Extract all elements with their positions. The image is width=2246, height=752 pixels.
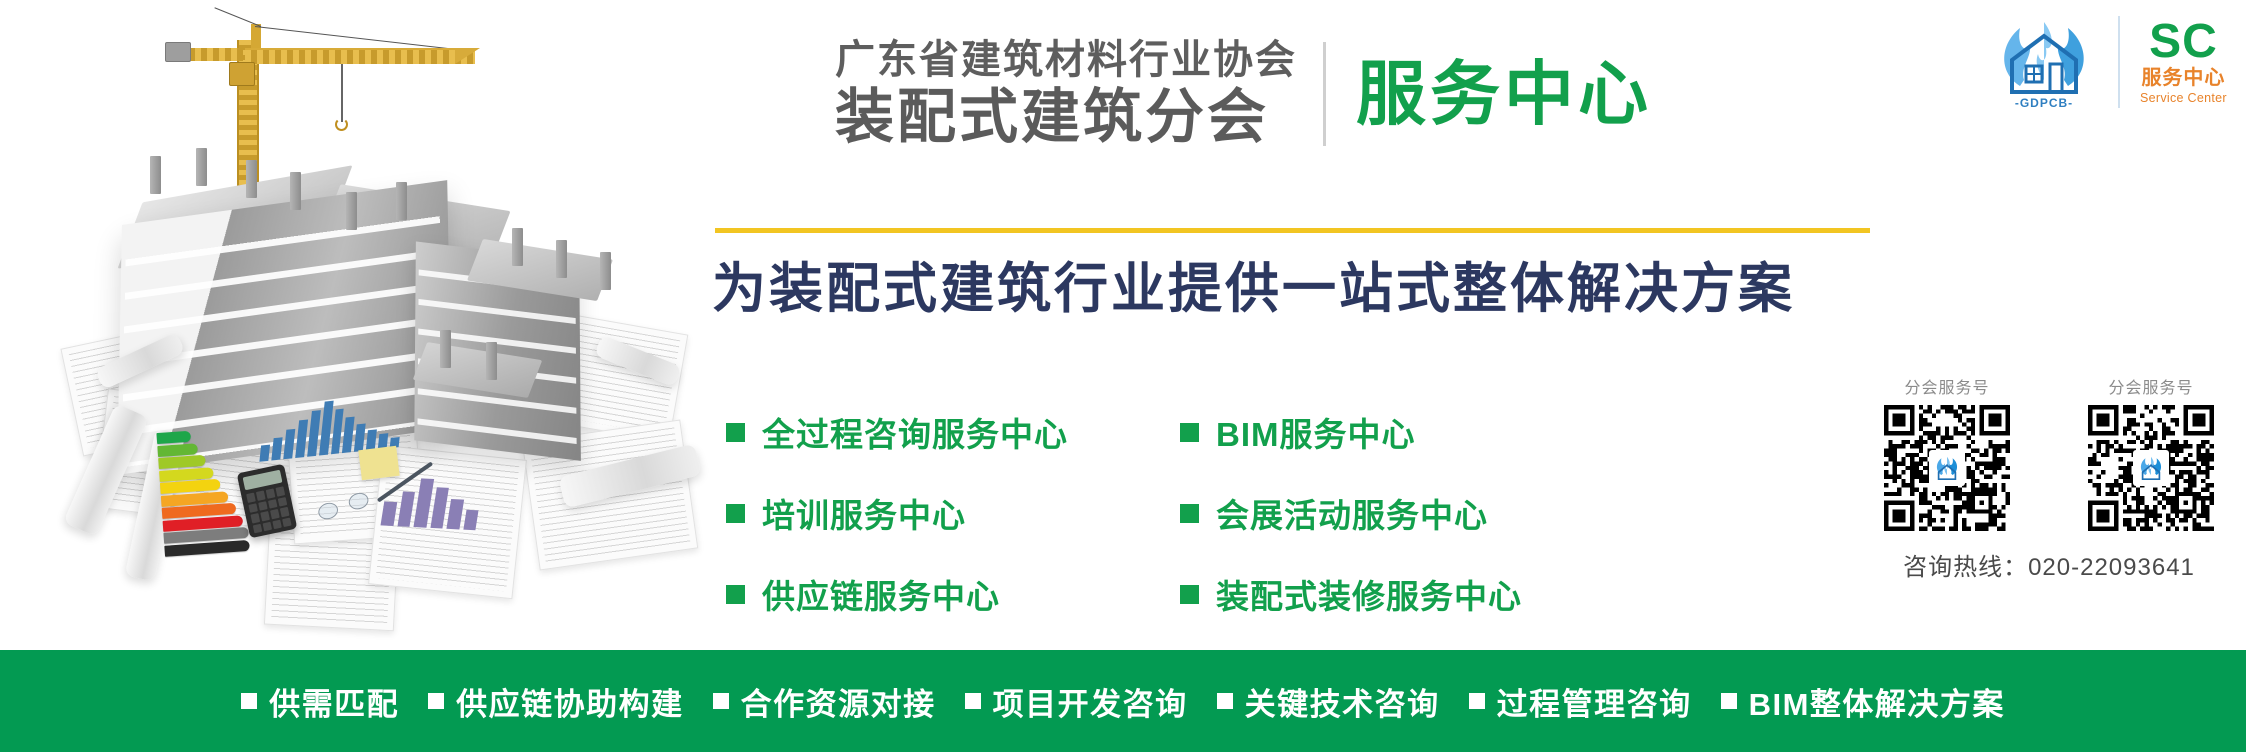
footer-item-list: 供需匹配 供应链协助构建 合作资源对接 项目开发咨询 关键技术咨询 过程管理咨询 [241,679,2005,724]
rebar-column [486,342,497,380]
square-bullet-icon [1180,504,1199,523]
square-bullet-icon [1217,693,1233,709]
bar-chart-purple [381,468,485,531]
service-column-left: 全过程咨询服务中心 培训服务中心 供应链服务中心 [726,408,1056,618]
rebar-column [196,148,207,186]
footer-bar: 供需匹配 供应链协助构建 合作资源对接 项目开发咨询 关键技术咨询 过程管理咨询 [0,650,2246,752]
service-label: 培训服务中心 [762,489,966,537]
rebar-column [556,240,567,278]
header-divider [1323,42,1326,146]
footer-item[interactable]: 供应链协助构建 [428,679,684,724]
rebar-column [246,160,257,198]
footer-item-label: 供应链协助构建 [456,679,684,724]
promo-banner: 广东省建筑材料行业协会 装配式建筑分会 服务中心 为装配式建筑行业提供一站式整体… [0,0,2246,752]
square-bullet-icon [241,693,257,709]
energy-rating-chart [156,427,248,538]
header-block: 广东省建筑材料行业协会 装配式建筑分会 服务中心 [835,38,1652,150]
qr-caption: 分会服务号 [2067,374,2235,398]
square-bullet-icon [428,693,444,709]
list-item[interactable]: 装配式装修服务中心 [1180,570,1522,618]
house-flame-svg [1990,14,2098,94]
footer-item[interactable]: 合作资源对接 [713,679,936,724]
footer-item-label: 项目开发咨询 [993,679,1188,724]
footer-item[interactable]: BIM整体解决方案 [1721,679,2005,724]
footer-item[interactable]: 供需匹配 [241,679,399,724]
list-item[interactable]: 全过程咨询服务中心 [726,408,1056,456]
hotline-text: 咨询热线：020-22093641 [1863,547,2235,582]
rebar-column [600,252,611,290]
service-column-right: BIM服务中心 会展活动服务中心 装配式装修服务中心 [1180,408,1522,618]
footer-item-label: BIM整体解决方案 [1749,679,2005,724]
list-item[interactable]: 会展活动服务中心 [1180,489,1522,537]
association-name-line1: 广东省建筑材料行业协会 [835,38,1297,83]
sticky-note [358,446,399,480]
logo-english-text: Service Center [2140,91,2227,105]
list-item[interactable]: BIM服务中心 [1180,408,1522,456]
service-label: 全过程咨询服务中心 [762,408,1068,456]
footer-item-label: 供需匹配 [269,679,399,724]
rebar-column [512,228,523,266]
qr-code-image[interactable] [2088,405,2214,531]
qr-caption: 分会服务号 [1863,374,2031,398]
logo-sc-text: SC [2140,19,2227,65]
qr-contact-block: 分会服务号 分会服务号 [1863,374,2235,582]
square-bullet-icon [726,423,745,442]
gdpcb-house-flame-icon: -GDPCB- [1990,14,2098,110]
qr-center-logo-icon [1929,450,1965,486]
service-label: 供应链服务中心 [762,570,1000,618]
rebar-column [346,192,357,230]
footer-item[interactable]: 项目开发咨询 [965,679,1188,724]
service-label: 会展活动服务中心 [1216,489,1488,537]
list-item[interactable]: 供应链服务中心 [726,570,1056,618]
logo-chinese-text: 服务中心 [2140,67,2227,90]
footer-item-label: 关键技术咨询 [1245,679,1440,724]
rebar-column [396,182,407,220]
square-bullet-icon [1469,693,1485,709]
service-center-list: 全过程咨询服务中心 培训服务中心 供应链服务中心 BIM服务中心 会展活动服务中… [726,408,1522,618]
square-bullet-icon [1180,585,1199,604]
qr-code-image[interactable] [1884,405,2010,531]
rebar-column [290,172,301,210]
association-name-line2: 装配式建筑分会 [835,85,1297,150]
qr-cell: 分会服务号 [1863,374,2031,531]
tagline: 为装配式建筑行业提供一站式整体解决方案 [712,262,1892,316]
yellow-divider [715,228,1870,233]
service-center-title: 服务中心 [1356,59,1652,129]
footer-item[interactable]: 过程管理咨询 [1469,679,1692,724]
list-item[interactable]: 培训服务中心 [726,489,1056,537]
construction-illustration [0,0,680,660]
qr-cell: 分会服务号 [2067,374,2235,531]
square-bullet-icon [713,693,729,709]
logo-divider [2118,16,2120,108]
service-label: 装配式装修服务中心 [1216,570,1522,618]
rebar-column [440,330,451,368]
qr-center-logo-icon [2133,450,2169,486]
gdpcb-text: -GDPCB- [1990,96,2098,110]
square-bullet-icon [1180,423,1199,442]
square-bullet-icon [726,585,745,604]
service-label: BIM服务中心 [1216,408,1416,456]
square-bullet-icon [1721,693,1737,709]
square-bullet-icon [965,693,981,709]
square-bullet-icon [726,504,745,523]
footer-item[interactable]: 关键技术咨询 [1217,679,1440,724]
footer-item-label: 合作资源对接 [741,679,936,724]
brand-logo: -GDPCB- SC 服务中心 Service Center [1990,14,2227,110]
rebar-column [150,156,161,194]
footer-item-label: 过程管理咨询 [1497,679,1692,724]
